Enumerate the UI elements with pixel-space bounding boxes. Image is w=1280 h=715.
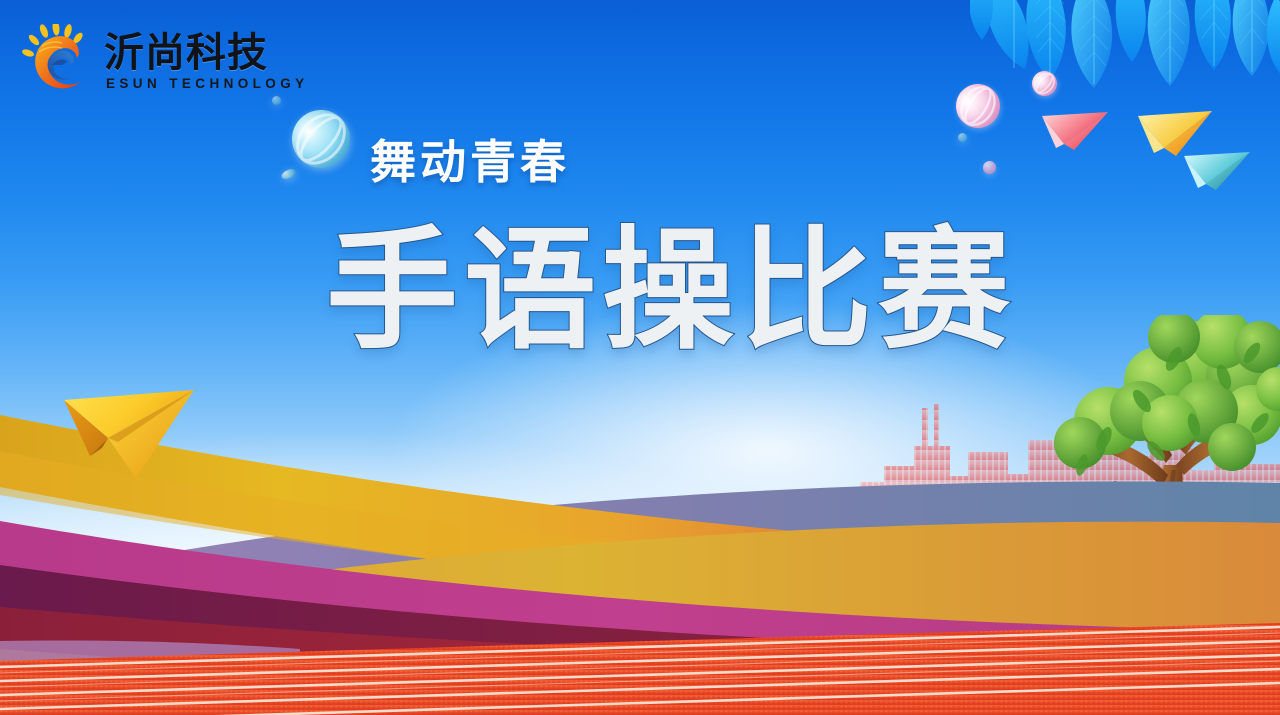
poster-subtitle: 舞动青春 — [370, 126, 570, 192]
sun-swirl-logo-icon — [22, 24, 98, 100]
brand-name-en: ESUN TECHNOLOGY — [106, 77, 309, 91]
bubble-tiny-a-icon — [958, 133, 967, 142]
poster-canvas: 沂尚科技 ESUN TECHNOLOGY — [0, 0, 1280, 715]
paper-plane-teal-icon — [1182, 150, 1254, 201]
blue-leaves-icon — [970, 0, 1280, 155]
bubble-tiny-b-icon — [983, 161, 996, 174]
paper-plane-pink-icon — [1040, 110, 1112, 161]
brand-name-cn: 沂尚科技 — [104, 33, 309, 73]
brand-logo[interactable]: 沂尚科技 ESUN TECHNOLOGY — [22, 22, 309, 102]
poster-title: 手语操比赛 — [326, 222, 1016, 361]
bubble-tiny-cyan-icon — [272, 96, 281, 105]
paper-plane-gold-large-icon — [62, 386, 202, 489]
